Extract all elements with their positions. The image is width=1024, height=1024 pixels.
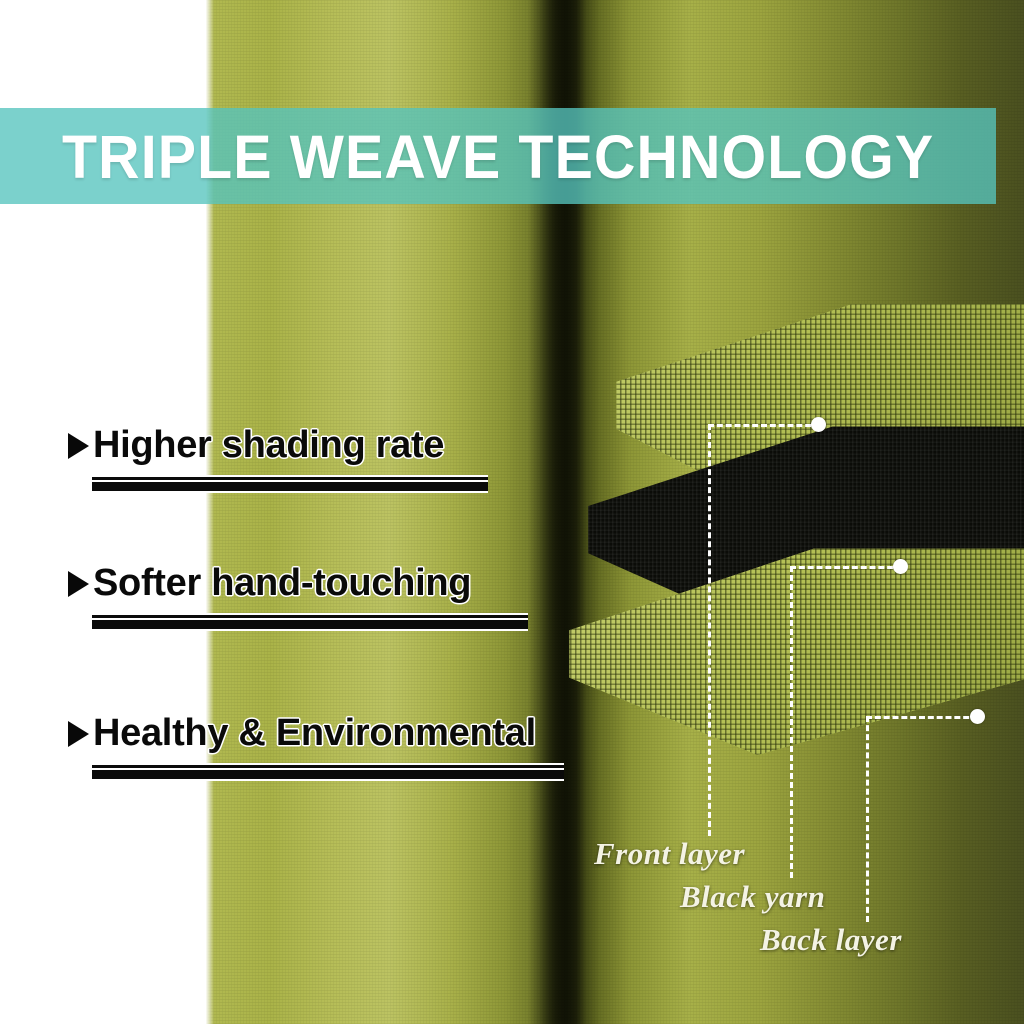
callout-leader-horizontal-front xyxy=(708,424,820,427)
callout-leader-vertical-black xyxy=(790,566,793,878)
callout-leader-vertical-back xyxy=(866,716,869,922)
callout-label-front-layer: Front layer xyxy=(594,836,745,872)
callout-dot-back xyxy=(970,709,985,724)
callout-leader-horizontal-back xyxy=(866,716,978,719)
callout-leader-horizontal-black xyxy=(790,566,902,569)
callout-dot-black xyxy=(893,559,908,574)
callout-leader-vertical-front xyxy=(708,424,711,836)
callout-dot-front xyxy=(811,417,826,432)
callout-label-back-layer: Back layer xyxy=(760,922,902,958)
diagram-callouts: Front layer Black yarn Back layer xyxy=(0,0,1024,1024)
infographic-canvas: TRIPLE WEAVE TECHNOLOGY Higher shading r… xyxy=(0,0,1024,1024)
callout-label-black-yarn: Black yarn xyxy=(680,879,825,915)
